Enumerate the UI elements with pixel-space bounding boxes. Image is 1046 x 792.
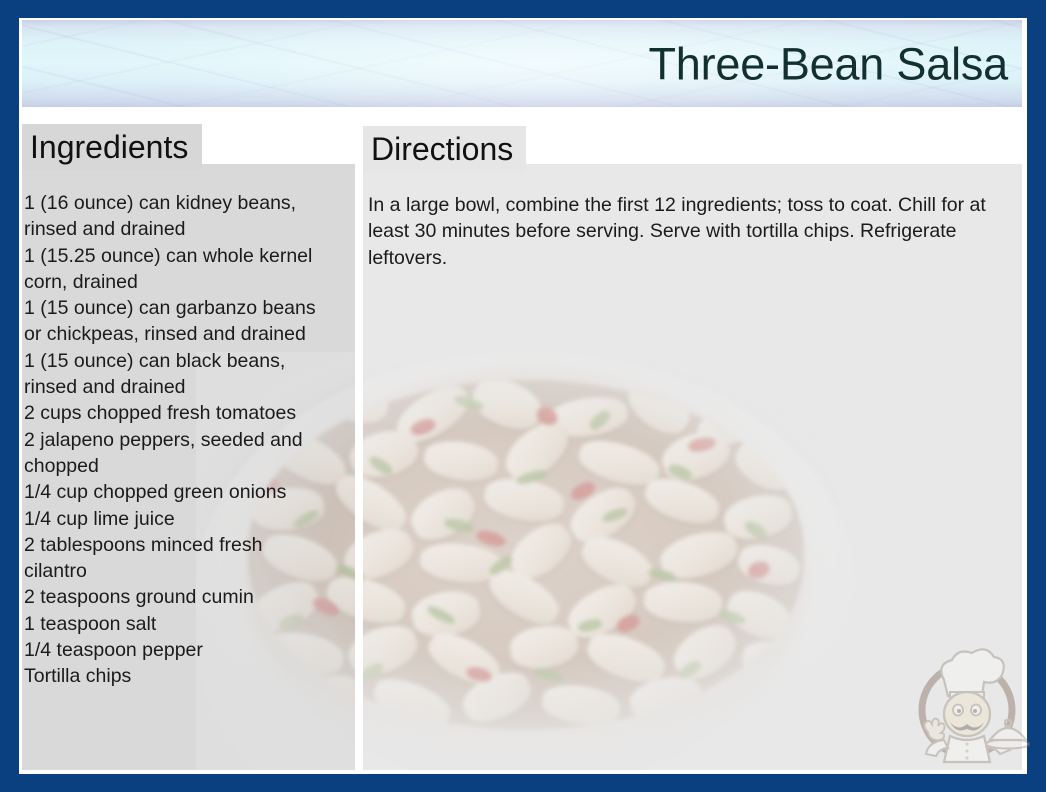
page-title: Three-Bean Salsa <box>648 41 1008 86</box>
list-item: rinsed and drained <box>24 374 354 400</box>
list-item: 1 (15 ounce) can black beans, <box>24 348 354 374</box>
list-item: 1/4 cup chopped green onions <box>24 479 354 505</box>
ingredients-heading: Ingredients <box>22 124 202 170</box>
list-item: cilantro <box>24 558 354 584</box>
list-item: rinsed and drained <box>24 216 354 242</box>
list-item: 1/4 cup lime juice <box>24 506 354 532</box>
list-item: 1 (15.25 ounce) can whole kernel <box>24 243 354 269</box>
list-item: chopped <box>24 453 354 479</box>
ingredients-list: 1 (16 ounce) can kidney beans, rinsed an… <box>24 190 354 690</box>
header-banner: Three-Bean Salsa <box>22 20 1022 107</box>
list-item: 1/4 teaspoon pepper <box>24 637 354 663</box>
list-item: 2 teaspoons ground cumin <box>24 584 354 610</box>
directions-heading: Directions <box>363 126 526 172</box>
chef-logo-icon <box>904 640 1030 766</box>
panel-gutter <box>355 164 363 770</box>
list-item: 1 (16 ounce) can kidney beans, <box>24 190 354 216</box>
list-item: 2 tablespoons minced fresh <box>24 532 354 558</box>
list-item: 1 teaspoon salt <box>24 611 354 637</box>
list-item: 2 cups chopped fresh tomatoes <box>24 400 354 426</box>
list-item: 2 jalapeno peppers, seeded and <box>24 427 354 453</box>
list-item: 1 (15 ounce) can garbanzo beans <box>24 295 354 321</box>
recipe-card-frame: Three-Bean Salsa <box>0 0 1046 792</box>
list-item: Tortilla chips <box>24 663 354 689</box>
list-item: or chickpeas, rinsed and drained <box>24 321 354 347</box>
list-item: corn, drained <box>24 269 354 295</box>
directions-body: In a large bowl, combine the first 12 in… <box>368 192 1008 271</box>
